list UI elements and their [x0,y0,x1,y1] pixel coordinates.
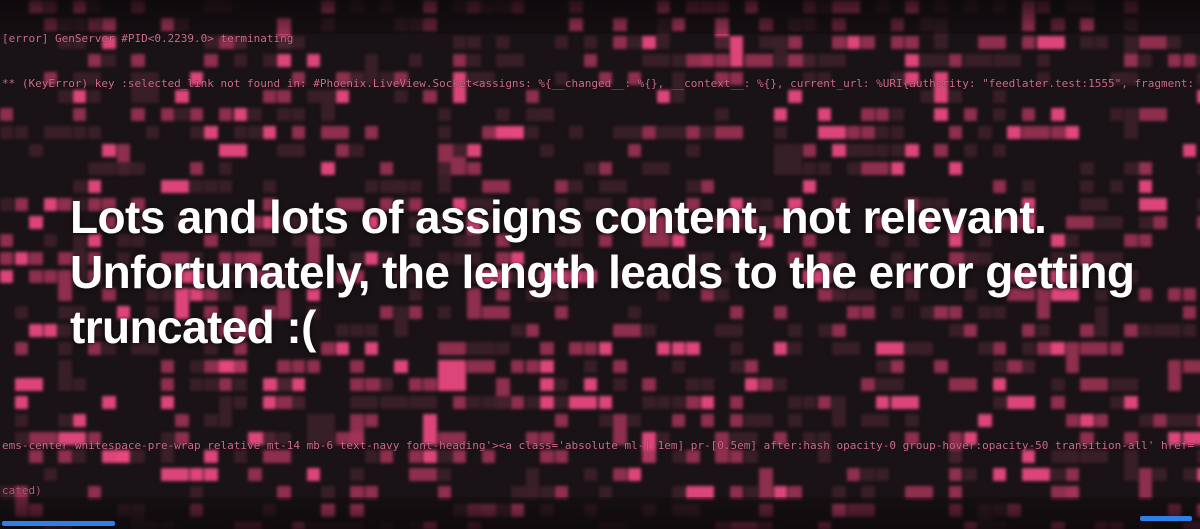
log-pixel-block [949,450,962,463]
log-pixel-block [876,108,889,121]
log-pixel-block [1110,396,1123,409]
log-pixel-block [1037,36,1065,49]
log-pixel-block [44,468,57,481]
log-pixel-block [219,108,232,121]
log-pixel-block [978,414,991,427]
log-pixel-block [1037,54,1050,67]
log-pixel-block [380,450,393,463]
log-pixel-block [949,486,962,499]
log-pixel-block [44,18,57,31]
log-pixel-block [204,54,217,67]
log-pixel-block [540,504,553,517]
log-pixel-block [730,432,758,445]
log-pixel-block [467,36,480,49]
log-pixel-block [336,522,364,529]
log-pixel-block [1139,324,1152,337]
log-pixel-block [672,450,685,463]
log-pixel-block [277,432,290,445]
log-pixel-block [1139,108,1167,121]
log-pixel-block [73,414,86,427]
log-pixel-block [1080,414,1093,427]
log-pixel-block [803,54,816,67]
log-pixel-block [0,126,13,139]
log-pixel-block [292,126,305,139]
log-pixel-block [1124,108,1137,139]
log-pixel-block [365,54,378,85]
log-pixel-block [964,468,977,481]
log-pixel-block [555,486,568,499]
log-pixel-block [701,396,714,409]
log-pixel-block [58,18,71,31]
log-pixel-block [934,72,947,103]
log-pixel-block [117,162,145,175]
log-pixel-block [861,36,874,49]
log-pixel-block [584,378,597,391]
log-pixel-block [161,468,189,481]
log-pixel-block [832,18,845,31]
log-pixel-block [1022,468,1050,481]
log-pixel-block [263,126,276,139]
log-pixel-block [832,396,845,427]
log-pixel-block [1183,432,1200,445]
log-pixel-block [628,468,641,481]
log-pixel-block [438,108,451,121]
log-pixel-block [599,396,612,409]
log-pixel-block [642,450,655,463]
log-pixel-block [292,72,305,85]
log-pixel-block [701,54,714,67]
log-pixel-block [642,504,655,517]
log-pixel-block [204,126,217,139]
log-pixel-block [569,396,597,409]
log-pixel-block [1007,126,1020,139]
log-pixel-block [730,414,743,427]
log-pixel-block [1139,198,1167,211]
log-pixel-block [526,360,539,373]
log-pixel-block [190,162,203,175]
log-pixel-block [584,504,597,517]
log-pixel-block [1183,306,1196,319]
log-pixel-block [891,18,904,31]
log-pixel-block [818,522,831,529]
log-pixel-block [73,18,86,31]
log-pixel-block [0,252,13,265]
log-pixel-block [1095,522,1108,529]
log-pixel-block [628,72,641,85]
log-pixel-block [277,54,290,67]
log-pixel-block [1051,396,1064,409]
log-pixel-block [277,108,290,121]
log-pixel-block [336,144,349,157]
log-pixel-block [1183,468,1196,481]
log-pixel-block [847,144,875,157]
log-pixel-block [58,450,71,463]
log-pixel-block [44,72,57,85]
log-pixel-block [876,468,889,481]
log-pixel-block [1183,54,1196,67]
log-pixel-block [350,360,363,373]
log-pixel-block [204,36,217,49]
log-pixel-block [234,36,247,49]
log-pixel-block [88,18,101,31]
horizontal-scrollbar-left[interactable] [2,521,115,526]
log-pixel-block [453,54,466,67]
log-pixel-block [277,90,290,103]
headline-line-3: truncated :( [70,300,1140,355]
log-pixel-block [263,504,276,517]
log-pixel-block [29,270,42,283]
log-pixel-block [715,432,728,463]
headline-line-1: Lots and lots of assigns content, not re… [70,190,1140,245]
log-pixel-block [73,126,86,139]
log-pixel-block [759,504,772,517]
log-pixel-block [467,396,480,409]
log-pixel-block [29,216,42,229]
log-pixel-block [58,360,71,391]
log-pixel-block [321,126,349,139]
log-pixel-block [920,90,933,103]
log-pixel-block [1153,324,1181,337]
log-pixel-block [584,36,597,49]
log-pixel-block [642,396,655,409]
log-pixel-block [482,396,510,409]
log-pixel-block [905,144,918,157]
headline-line-2: Unfortunately, the length leads to the e… [70,245,1140,300]
log-pixel-block [394,18,407,31]
log-pixel-block [934,360,947,373]
log-pixel-block [788,90,801,103]
log-pixel-block [861,162,889,175]
log-pixel-block [453,396,466,409]
log-pixel-block [1051,468,1064,481]
log-pixel-block [818,72,831,85]
log-pixel-block [1139,414,1152,427]
log-pixel-block [175,414,188,427]
log-pixel-block [29,0,42,13]
log-pixel-block [759,18,772,31]
log-pixel-block [803,432,816,445]
log-pixel-block [905,486,933,499]
log-pixel-block [876,0,889,13]
log-pixel-block [131,0,144,13]
log-pixel-block [1183,360,1200,373]
log-pixel-block [657,432,670,445]
log-pixel-block [453,144,466,157]
log-pixel-block [993,108,1006,121]
log-pixel-block [102,18,115,31]
log-pixel-block [438,360,466,391]
log-pixel-block [15,252,28,265]
log-pixel-block [336,432,364,445]
log-pixel-block [73,90,86,103]
log-pixel-block [540,432,553,445]
log-pixel-block [161,18,174,31]
log-pixel-block [204,450,217,463]
log-pixel-block [1139,288,1152,301]
log-pixel-block [292,522,305,529]
log-pixel-block [88,486,101,499]
log-pixel-block [730,396,743,409]
log-pixel-block [1168,36,1181,49]
log-pixel-block [161,378,174,391]
log-pixel-block [380,162,393,175]
log-pixel-block [774,108,787,121]
log-pixel-block [73,36,86,49]
log-pixel-block [146,126,159,139]
log-pixel-block [307,468,320,481]
log-pixel-block [365,486,378,499]
log-pixel-block [774,144,802,175]
log-pixel-block [102,36,115,49]
log-pixel-block [861,126,874,139]
log-pixel-block [511,360,524,373]
log-pixel-block [1066,468,1079,481]
log-pixel-block [745,486,758,499]
log-pixel-block [453,504,466,517]
log-pixel-block [467,0,480,13]
log-pixel-block [730,36,743,67]
log-pixel-block [204,414,217,427]
log-pixel-block [58,90,71,103]
log-pixel-block [1183,522,1200,529]
log-pixel-block [380,72,393,85]
log-pixel-block [540,396,553,409]
log-pixel-block [204,468,217,481]
log-pixel-block [1139,180,1152,193]
log-pixel-block [774,486,787,499]
log-pixel-block [745,450,758,463]
log-pixel-block [584,54,597,67]
log-pixel-block [204,0,232,13]
log-pixel-block [44,234,57,247]
log-pixel-block [1153,414,1166,427]
log-pixel-block [394,360,407,373]
log-pixel-block [453,36,466,49]
log-pixel-block [161,522,174,529]
log-pixel-block [526,126,539,139]
log-pixel-block [730,450,743,463]
log-pixel-block [88,0,101,13]
log-pixel-block [599,414,612,427]
log-pixel-block [1110,72,1138,85]
log-pixel-block [964,54,992,67]
log-pixel-block [15,342,28,355]
log-pixel-block [1139,36,1167,49]
log-pixel-block [599,72,612,85]
log-pixel-block [58,36,71,49]
log-pixel-block [15,432,28,445]
log-pixel-block [686,450,699,463]
log-pixel-block [190,126,203,139]
log-pixel-block [803,144,816,157]
log-pixel-block [58,414,71,427]
log-pixel-block [350,0,363,13]
log-pixel-block [1168,432,1181,445]
log-pixel-block [73,108,86,121]
log-pixel-block [599,162,612,175]
log-pixel-block [949,54,962,67]
log-pixel-block [1022,360,1035,373]
log-pixel-block [350,378,363,391]
log-pixel-block [569,126,582,139]
log-pixel-block [686,378,699,391]
log-pixel-block [496,36,509,49]
log-pixel-block [569,0,582,13]
log-pixel-block [964,144,977,157]
log-pixel-block [15,378,43,391]
log-pixel-block [292,360,305,373]
log-pixel-block [818,126,846,139]
log-pixel-block [175,18,188,31]
log-pixel-block [511,504,524,517]
log-pixel-block [350,396,378,409]
log-pixel-block [628,144,641,157]
log-pixel-block [1022,126,1050,139]
log-pixel-block [613,18,626,31]
log-pixel-block [613,126,641,139]
log-pixel-block [555,396,568,409]
log-pixel-block [1168,360,1181,391]
log-pixel-block [1022,108,1035,121]
log-pixel-block [861,414,889,427]
log-pixel-block [423,522,436,529]
log-pixel-block [263,450,291,463]
log-pixel-block [686,396,699,409]
log-pixel-block [102,54,115,67]
log-pixel-block [803,396,816,409]
log-pixel-block [759,378,772,391]
log-pixel-block [949,378,977,391]
log-pixel-block [438,126,451,139]
log-pixel-block [1124,396,1137,409]
log-pixel-block [730,72,743,85]
log-pixel-block [423,0,436,13]
log-pixel-block [905,36,918,49]
log-pixel-block [219,144,247,157]
log-pixel-block [161,396,174,409]
log-pixel-block [745,54,773,67]
log-pixel-block [29,144,42,157]
log-pixel-block [730,486,743,499]
log-pixel-block [29,450,42,463]
log-pixel-block [1066,486,1079,499]
log-pixel-block [336,90,349,103]
log-pixel-block [131,108,144,121]
log-pixel-block [978,36,1006,49]
log-pixel-block [248,126,261,139]
log-pixel-block [774,126,787,139]
log-pixel-block [686,144,699,157]
log-pixel-block [321,18,334,31]
log-pixel-block [277,36,305,49]
screenshot-canvas: [error] GenServer #PID<0.2239.0> termina… [0,0,1200,529]
log-pixel-block [949,162,962,175]
log-pixel-block [715,126,743,139]
log-pixel-block [657,126,685,139]
log-pixel-block [672,486,685,499]
log-pixel-block [1051,108,1064,121]
log-pixel-block [423,378,436,391]
log-pixel-block [905,414,918,427]
log-pixel-block [15,414,28,427]
log-pixel-block [832,144,845,157]
log-pixel-block [102,144,115,157]
log-pixel-block [993,360,1006,373]
log-pixel-block [73,0,86,13]
log-pixel-block [1168,414,1196,427]
log-pixel-block [496,54,524,67]
horizontal-scrollbar-right[interactable] [1140,516,1192,521]
log-pixel-block [1139,162,1152,175]
log-pixel-block [467,54,480,67]
log-pixel-block [380,396,408,409]
log-pixel-block [380,0,393,13]
log-pixel-block [219,378,232,391]
log-pixel-block [672,72,685,103]
log-pixel-block [350,504,363,517]
log-pixel-block [292,144,305,157]
log-pixel-block [803,18,816,31]
log-pixel-block [1124,378,1137,391]
log-pixel-block [453,450,466,463]
log-pixel-block [847,126,860,139]
log-pixel-block [350,144,363,157]
log-pixel-block [993,0,1006,13]
log-pixel-block [467,162,480,175]
log-pixel-block [745,414,773,427]
log-pixel-block [409,54,422,67]
log-pixel-block [993,522,1006,529]
log-pixel-block [1037,0,1050,13]
log-pixel-block [745,360,758,373]
log-pixel-block [847,468,860,481]
log-pixel-block [234,396,247,409]
log-pixel-block [628,36,641,49]
log-pixel-block [964,432,977,445]
log-pixel-block [1022,0,1035,31]
log-pixel-block [263,90,276,103]
log-pixel-block [117,450,130,463]
log-pixel-block [1051,378,1064,391]
log-pixel-block [701,414,714,427]
log-pixel-block [190,108,203,121]
log-pixel-block [949,126,962,139]
log-pixel-block [44,324,57,337]
log-pixel-block [88,90,101,103]
log-pixel-block [964,522,977,529]
log-pixel-block [234,378,247,391]
log-pixel-block [15,306,28,319]
log-pixel-block [350,468,363,481]
headline-overlay: Lots and lots of assigns content, not re… [70,190,1140,355]
log-pixel-block [1139,216,1152,229]
log-pixel-block [861,378,874,391]
log-pixel-block [1022,450,1035,463]
log-pixel-block [1037,72,1050,85]
log-pixel-block [672,360,685,373]
log-pixel-block [15,126,28,139]
log-pixel-block [161,108,174,121]
log-pixel-block [1110,108,1123,121]
log-pixel-block [861,108,874,121]
log-pixel-block [701,378,714,391]
log-pixel-block [1139,54,1152,67]
log-pixel-block [832,504,845,517]
log-pixel-block [292,396,305,409]
log-pixel-block [876,396,889,409]
log-pixel-block [15,486,28,517]
log-pixel-block [818,54,846,67]
